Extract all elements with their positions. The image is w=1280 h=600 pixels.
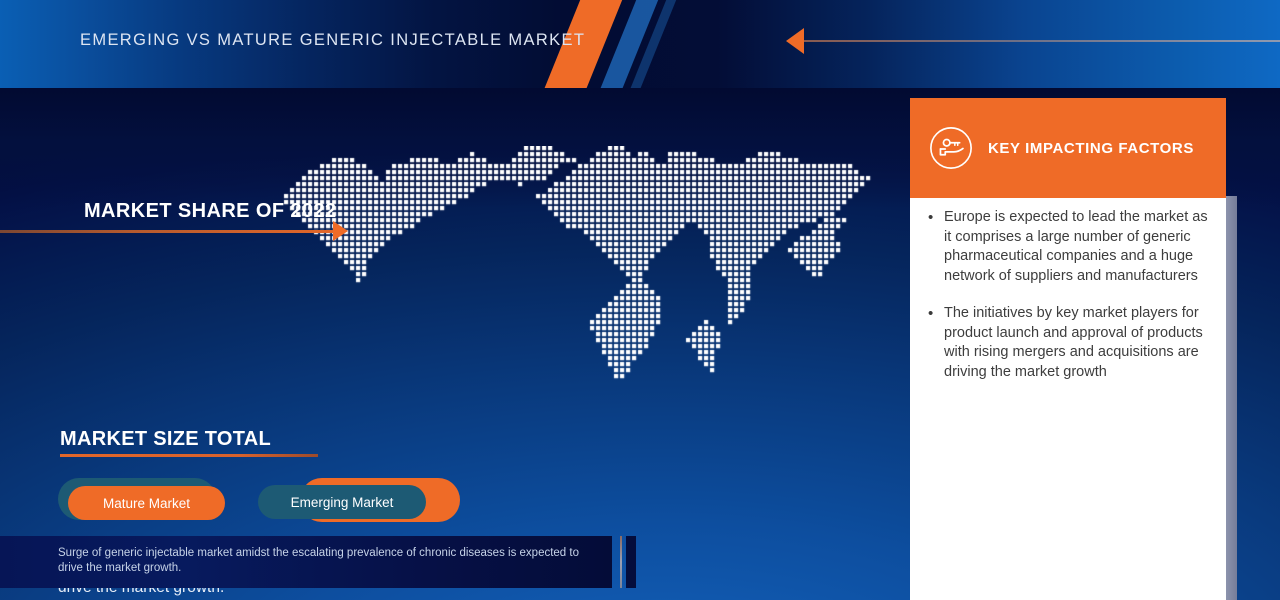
bullet-icon: •: [928, 304, 944, 382]
list-item-text: The initiatives by key market players fo…: [944, 304, 1212, 382]
footnote-divider: [620, 536, 622, 588]
market-share-heading: MARKET SHARE OF 2022: [84, 200, 337, 223]
page-title: EMERGING VS MATURE GENERIC INJECTABLE MA…: [80, 31, 585, 50]
list-item-text: Europe is expected to lead the market as…: [944, 208, 1212, 286]
arrow-left-icon: [786, 28, 804, 54]
legend-item-emerging-market[interactable]: Emerging Market: [258, 478, 448, 530]
arrow-right-icon: [333, 221, 348, 241]
list-item: • Europe is expected to lead the market …: [928, 208, 1212, 286]
footnote-end-block: [626, 536, 636, 588]
key-factors-list: • Europe is expected to lead the market …: [928, 208, 1212, 400]
legend-pill-label-emerging: Emerging Market: [258, 485, 426, 519]
market-size-underline: [60, 454, 318, 457]
key-factors-title: KEY IMPACTING FACTORS: [988, 140, 1194, 157]
panel-shadow-strip: [1226, 196, 1237, 600]
key-factors-panel-header: KEY IMPACTING FACTORS: [910, 98, 1226, 198]
legend-pill-label-mature: Mature Market: [68, 486, 225, 520]
bullet-icon: •: [928, 208, 944, 286]
list-item: • The initiatives by key market players …: [928, 304, 1212, 382]
dotted-world-map: [272, 146, 890, 466]
header-arrow-line: [800, 40, 1280, 42]
market-share-arrow-line: [0, 230, 336, 233]
hand-holding-key-icon: [928, 125, 974, 171]
page-header: EMERGING VS MATURE GENERIC INJECTABLE MA…: [0, 0, 1280, 88]
legend-item-mature-market[interactable]: Mature Market: [58, 478, 243, 528]
market-size-heading: MARKET SIZE TOTAL: [60, 428, 271, 451]
key-factors-panel: KEY IMPACTING FACTORS • Europe is expect…: [910, 98, 1226, 600]
footnote-text: Surge of generic injectable market amids…: [58, 546, 580, 576]
